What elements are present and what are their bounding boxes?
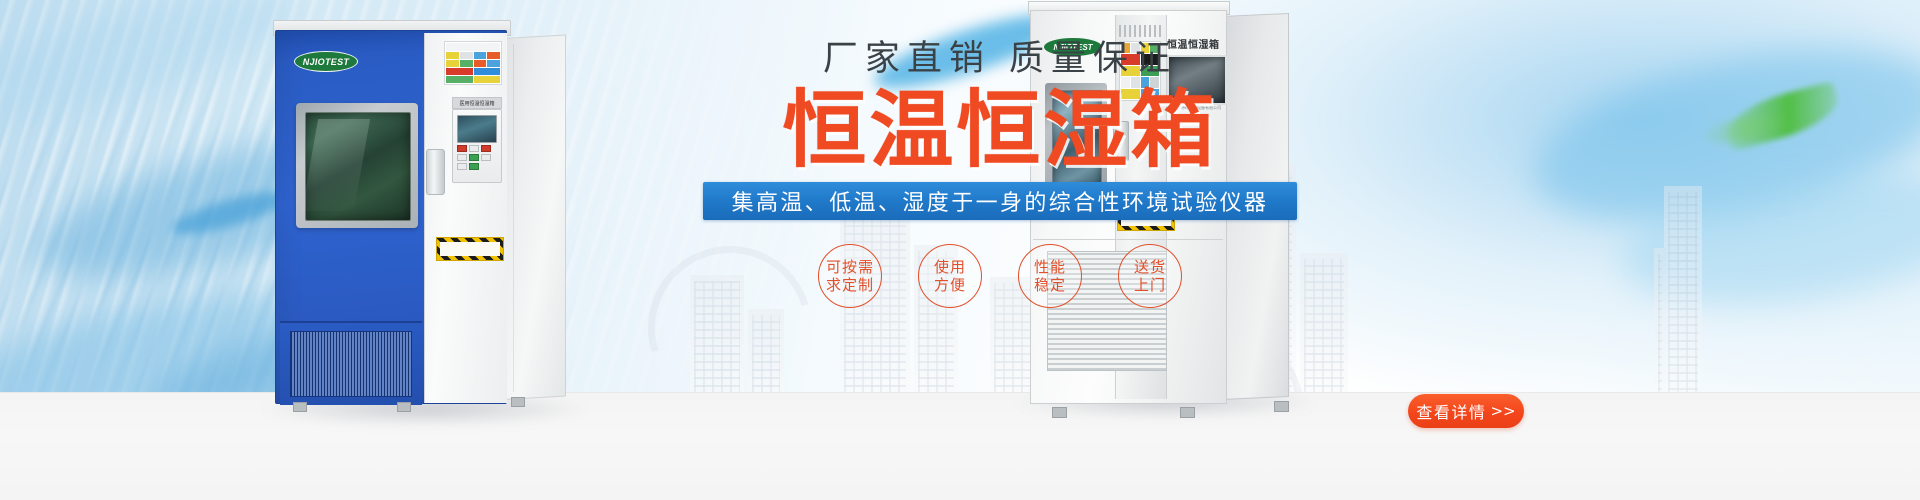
left-machine-button-row xyxy=(457,145,495,170)
left-machine-seam xyxy=(513,44,514,392)
left-machine-foot xyxy=(293,402,307,412)
promo-banner: NJIOTEST 医用恒温恒温箱 xyxy=(0,0,1920,500)
right-machine-foot xyxy=(1052,407,1067,418)
left-machine-warning-label xyxy=(444,41,502,85)
feature-badge-line2: 求定制 xyxy=(826,276,874,294)
left-machine-hazard-sticker xyxy=(436,237,504,261)
banner-tagline: 厂家直销 质量保证 xyxy=(690,42,1310,77)
feature-badge-line1: 性能 xyxy=(1034,258,1066,276)
view-details-button[interactable]: 查看详情 >> xyxy=(1408,394,1524,428)
left-machine-door-handle xyxy=(426,149,445,195)
feature-badge-line2: 稳定 xyxy=(1034,276,1066,294)
feature-badge-line2: 上门 xyxy=(1134,276,1166,294)
left-machine-brand-logo: NJIOTEST xyxy=(294,51,358,72)
banner-subtitle-text: 集高温、低温、湿度于一身的综合性环境试验仪器 xyxy=(732,185,1269,217)
feature-badge[interactable]: 送货 上门 xyxy=(1118,244,1182,308)
view-details-label: 查看详情 xyxy=(1416,399,1486,423)
left-machine-foot xyxy=(511,397,525,407)
left-machine-display-screen xyxy=(457,115,497,143)
banner-headline: 恒温恒湿箱 xyxy=(690,87,1310,174)
city-tower-decoration xyxy=(1640,168,1760,398)
feature-badge-list: 可按需 求定制 使用 方便 性能 稳定 送货 上门 xyxy=(700,244,1300,308)
left-machine-door xyxy=(296,103,418,228)
feature-badge[interactable]: 可按需 求定制 xyxy=(818,244,882,308)
chevron-right-double-icon: >> xyxy=(1490,402,1515,420)
left-machine-foot xyxy=(397,402,411,412)
left-machine-control-column xyxy=(424,33,507,403)
product-image-left: NJIOTEST 医用恒温恒温箱 xyxy=(275,30,565,405)
feature-badge[interactable]: 性能 稳定 xyxy=(1018,244,1082,308)
right-machine-foot xyxy=(1274,401,1289,412)
feature-badge-line2: 方便 xyxy=(934,276,966,294)
feature-badge-line1: 可按需 xyxy=(826,258,874,276)
feature-badge-line1: 使用 xyxy=(934,258,966,276)
banner-copy-block: 厂家直销 质量保证 恒温恒湿箱 集高温、低温、湿度于一身的综合性环境试验仪器 可… xyxy=(690,42,1310,308)
right-machine-top-grill xyxy=(1119,25,1161,37)
right-machine-foot xyxy=(1180,407,1195,418)
feature-badge-line1: 送货 xyxy=(1134,258,1166,276)
left-machine-body: NJIOTEST 医用恒温恒温箱 xyxy=(275,30,507,404)
banner-subtitle-bar: 集高温、低温、湿度于一身的综合性环境试验仪器 xyxy=(703,182,1297,220)
left-machine-panel-label: 医用恒温恒温箱 xyxy=(452,97,502,109)
left-machine-vent-grill xyxy=(290,331,412,397)
feature-badge[interactable]: 使用 方便 xyxy=(918,244,982,308)
